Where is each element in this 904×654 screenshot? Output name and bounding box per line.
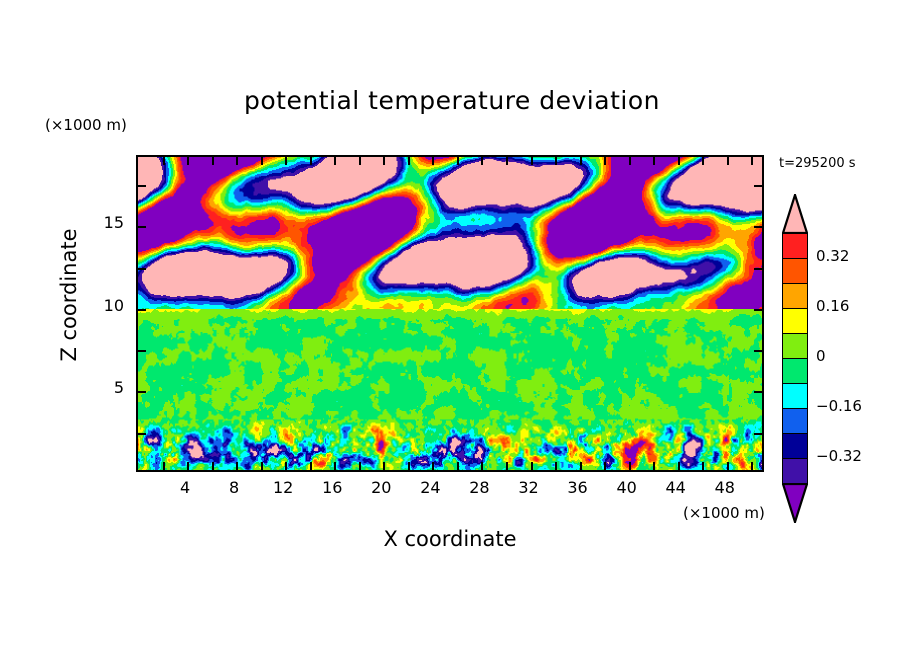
axis-tick xyxy=(187,157,189,165)
axis-tick xyxy=(138,226,146,228)
axis-tick xyxy=(754,309,762,311)
axis-tick xyxy=(383,157,385,165)
axis-tick xyxy=(285,462,287,470)
colorbar-segment[interactable] xyxy=(782,433,808,460)
axis-tick xyxy=(359,157,361,165)
field-raster xyxy=(138,157,762,470)
x-tick-label: 24 xyxy=(410,478,450,497)
colorbar-segment[interactable] xyxy=(782,233,808,260)
contour-plot-area xyxy=(136,155,764,472)
axis-tick xyxy=(212,157,214,165)
x-tick-label: 28 xyxy=(459,478,499,497)
colorbar-tick-label: −0.32 xyxy=(816,447,862,465)
colorbar-tick-label: 0.32 xyxy=(816,247,849,265)
axis-tick xyxy=(457,157,459,165)
axis-tick xyxy=(432,157,434,165)
axis-tick xyxy=(212,462,214,470)
x-tick-label: 4 xyxy=(165,478,205,497)
axis-tick xyxy=(138,350,146,352)
x-axis-unit-label: (×1000 m) xyxy=(683,504,765,522)
axis-tick xyxy=(604,462,606,470)
axis-tick xyxy=(555,462,557,470)
axis-tick xyxy=(754,185,762,187)
y-axis-unit-label: (×1000 m) xyxy=(45,116,127,134)
colorbar-segment[interactable] xyxy=(782,258,808,285)
axis-tick xyxy=(751,462,753,470)
axis-tick xyxy=(678,157,680,165)
x-tick-label: 44 xyxy=(656,478,696,497)
axis-tick xyxy=(408,157,410,165)
x-axis-title: X coordinate xyxy=(250,527,650,551)
colorbar-tick-label: 0.16 xyxy=(816,297,849,315)
colorbar-segment[interactable] xyxy=(782,458,808,485)
axis-tick xyxy=(580,462,582,470)
axis-tick xyxy=(678,462,680,470)
x-tick-label: 20 xyxy=(361,478,401,497)
x-tick-label: 40 xyxy=(607,478,647,497)
axis-tick xyxy=(754,350,762,352)
axis-tick xyxy=(138,309,146,311)
axis-tick xyxy=(727,462,729,470)
colorbar-segment[interactable] xyxy=(782,408,808,435)
axis-tick xyxy=(754,268,762,270)
axis-tick xyxy=(261,462,263,470)
axis-tick xyxy=(580,157,582,165)
axis-tick xyxy=(754,391,762,393)
colorbar-segment[interactable] xyxy=(782,383,808,410)
y-axis-title: Z coordinate xyxy=(57,195,81,395)
timestamp-annotation: t=295200 s xyxy=(779,156,856,171)
axis-tick xyxy=(604,157,606,165)
colorbar-segment[interactable] xyxy=(782,358,808,385)
colorbar-segment[interactable] xyxy=(782,308,808,335)
axis-tick xyxy=(531,157,533,165)
axis-tick xyxy=(702,157,704,165)
axis-tick xyxy=(138,185,146,187)
axis-tick xyxy=(261,157,263,165)
x-tick-label: 36 xyxy=(558,478,598,497)
axis-tick xyxy=(310,462,312,470)
axis-tick xyxy=(334,157,336,165)
axis-tick xyxy=(629,157,631,165)
axis-tick xyxy=(754,433,762,435)
axis-tick xyxy=(138,433,146,435)
axis-tick xyxy=(236,157,238,165)
axis-tick xyxy=(236,462,238,470)
axis-tick xyxy=(138,391,146,393)
axis-tick xyxy=(285,157,287,165)
x-tick-label: 12 xyxy=(263,478,303,497)
axis-tick xyxy=(359,462,361,470)
axis-tick xyxy=(629,462,631,470)
axis-tick xyxy=(163,462,165,470)
axis-tick xyxy=(163,157,165,165)
axis-tick xyxy=(653,157,655,165)
colorbar-tick-label: −0.16 xyxy=(816,397,862,415)
axis-tick xyxy=(531,462,533,470)
colorbar-segment[interactable] xyxy=(782,333,808,360)
axis-tick xyxy=(432,462,434,470)
axis-tick xyxy=(653,462,655,470)
axis-tick xyxy=(457,462,459,470)
colorbar-tick-label: 0 xyxy=(816,347,826,365)
figure-canvas: potential temperature deviation (×1000 m… xyxy=(0,0,904,654)
axis-tick xyxy=(506,157,508,165)
x-tick-label: 48 xyxy=(705,478,745,497)
axis-tick xyxy=(727,157,729,165)
axis-tick xyxy=(555,157,557,165)
axis-tick xyxy=(138,268,146,270)
colorbar-segment[interactable] xyxy=(782,283,808,310)
axis-tick xyxy=(408,462,410,470)
colorbar[interactable] xyxy=(782,233,808,483)
axis-tick xyxy=(383,462,385,470)
x-tick-label: 32 xyxy=(509,478,549,497)
axis-tick xyxy=(187,462,189,470)
axis-tick xyxy=(506,462,508,470)
axis-tick xyxy=(754,226,762,228)
page-title: potential temperature deviation xyxy=(0,86,904,115)
y-tick-label: 5 xyxy=(92,378,124,397)
axis-tick xyxy=(751,157,753,165)
x-tick-label: 16 xyxy=(312,478,352,497)
axis-tick xyxy=(481,157,483,165)
axis-tick xyxy=(702,462,704,470)
x-tick-label: 8 xyxy=(214,478,254,497)
axis-tick xyxy=(481,462,483,470)
axis-tick xyxy=(310,157,312,165)
y-tick-label: 15 xyxy=(92,213,124,232)
y-tick-label: 10 xyxy=(92,296,124,315)
axis-tick xyxy=(334,462,336,470)
